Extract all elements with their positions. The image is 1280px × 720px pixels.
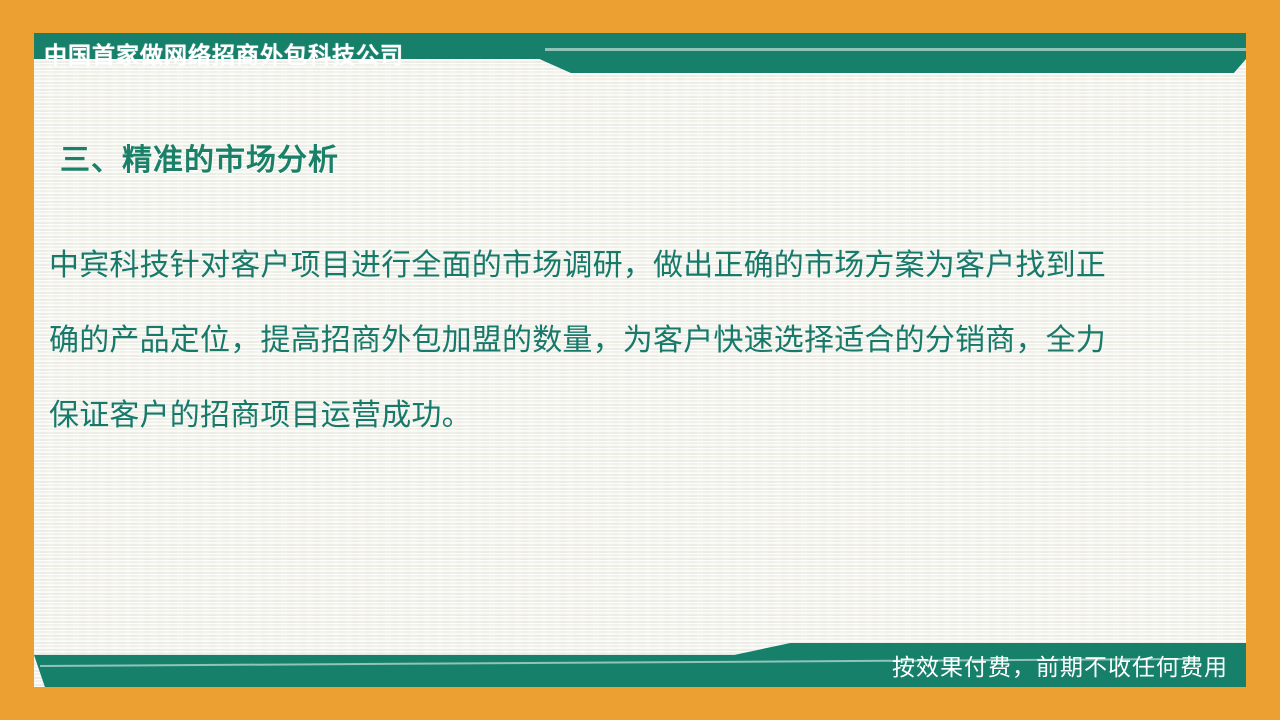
header-divider-line bbox=[545, 48, 1246, 51]
section-heading: 三、精准的市场分析 bbox=[60, 135, 339, 179]
presentation-slide: 中国首家做网络招商外包科技公司 三、精准的市场分析 中宾科技针对客户项目进行全面… bbox=[0, 0, 1280, 720]
footer-tagline: 按效果付费，前期不收任何费用 bbox=[892, 646, 1228, 684]
body-paragraph-line: 保证客户的招商项目运营成功。 bbox=[49, 378, 1184, 453]
body-paragraph-line: 中宾科技针对客户项目进行全面的市场调研，做出正确的市场方案为客户找到正 bbox=[49, 228, 1184, 303]
header-company-title: 中国首家做网络招商外包科技公司 bbox=[44, 35, 404, 71]
body-paragraph: 中宾科技针对客户项目进行全面的市场调研，做出正确的市场方案为客户找到正 确的产品… bbox=[49, 228, 1184, 453]
body-paragraph-line: 确的产品定位，提高招商外包加盟的数量，为客户快速选择适合的分销商，全力 bbox=[49, 303, 1184, 378]
